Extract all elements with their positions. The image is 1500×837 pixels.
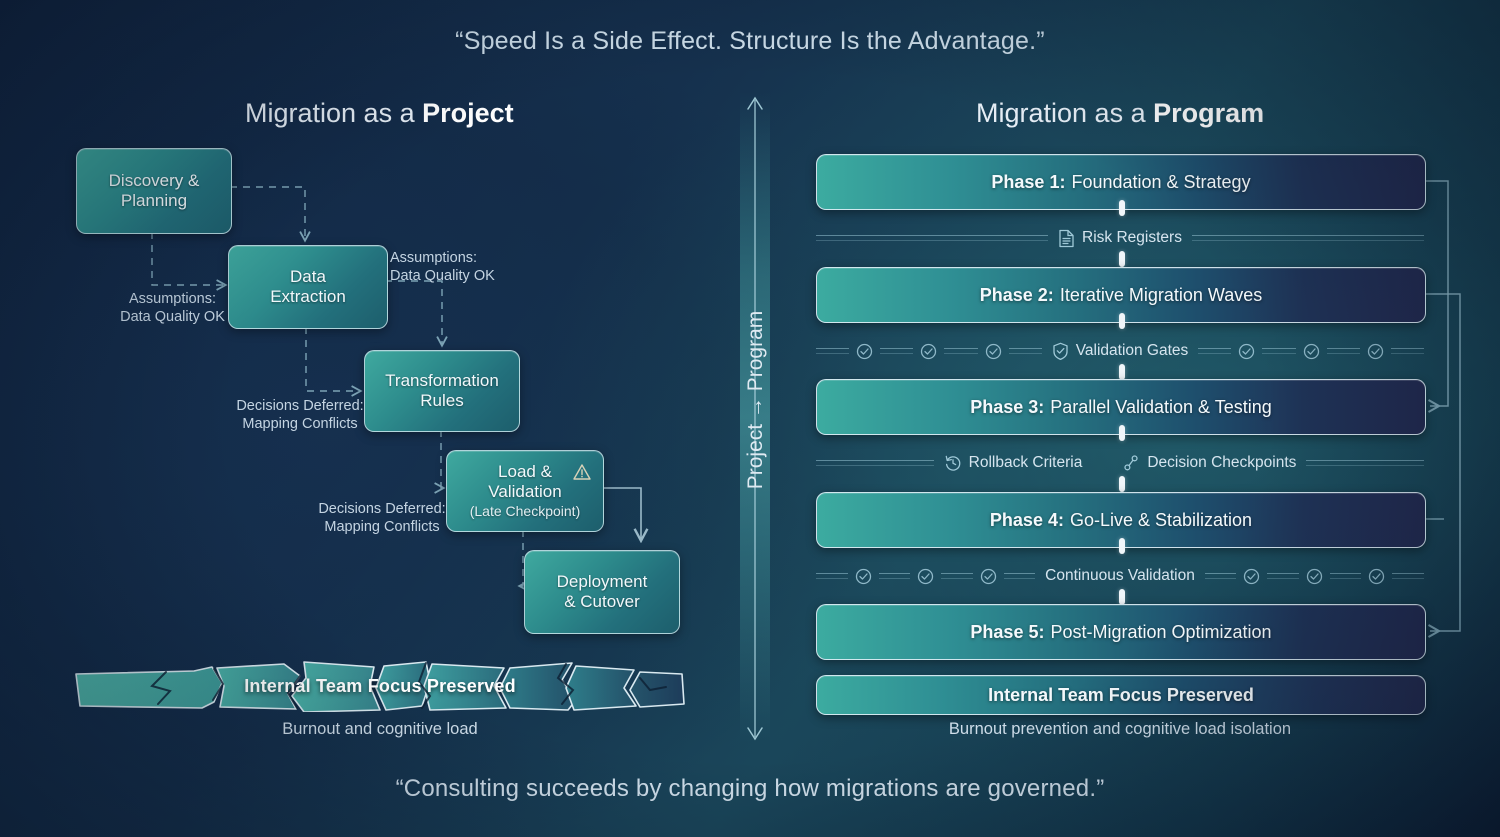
check-circle-icon (1306, 568, 1323, 585)
box-line1: Load & (498, 462, 552, 482)
rule-line (816, 573, 848, 579)
rule-line (1267, 573, 1299, 579)
check-circle-icon (980, 568, 997, 585)
branch-node-icon (1122, 454, 1140, 472)
project-box-transformation-rules[interactable]: Transformation Rules (364, 350, 520, 432)
phase-bar-5[interactable]: Phase 5: Post-Migration Optimization (816, 604, 1426, 660)
connector-label-group: Continuous Validation (1035, 567, 1205, 585)
box-line2: & Cutover (564, 592, 640, 612)
connector-label: Validation Gates (1076, 342, 1189, 360)
connector-label: Rollback Criteria (969, 454, 1083, 472)
rule-line (1306, 460, 1424, 466)
rule-line (1205, 573, 1237, 579)
check-circle-icon (1303, 343, 1320, 360)
edge-label-line1: Assumptions: (100, 290, 245, 308)
rule-line (941, 573, 973, 579)
connector-label: Risk Registers (1082, 229, 1182, 247)
rule-line (1262, 348, 1295, 354)
check-circle-icon (1367, 343, 1384, 360)
rule-line (1391, 348, 1424, 354)
connector-right-rule (1192, 235, 1424, 241)
phase-connector-stub (1119, 251, 1125, 267)
phase-connector-stub (1119, 425, 1125, 441)
phase-connector-stub (1119, 538, 1125, 554)
check-circle-icon (1243, 568, 1260, 585)
divider-label: Project → Program (744, 210, 768, 590)
rule-line (1198, 348, 1231, 354)
connector-left-gates (816, 568, 1035, 585)
rule-line (816, 348, 849, 354)
check-circle-icon (855, 568, 872, 585)
warning-triangle-icon (572, 462, 592, 482)
rule-line (816, 460, 934, 466)
check-circle-icon (985, 343, 1002, 360)
edge-label-decisions-1: Decisions Deferred: Mapping Conflicts (225, 397, 375, 433)
box-sublabel: (Late Checkpoint) (470, 503, 581, 520)
project-box-load-validation[interactable]: Load & Validation (Late Checkpoint) (446, 450, 604, 532)
phase-label: Parallel Validation & Testing (1050, 397, 1271, 418)
phase-number: Phase 3: (970, 397, 1044, 418)
edge-label-line2: Data Quality OK (390, 267, 540, 285)
phase-number: Phase 2: (980, 285, 1054, 306)
edge-label-line2: Data Quality OK (100, 308, 245, 326)
edge-label-assumptions-1: Assumptions: Data Quality OK (100, 290, 245, 326)
project-banner-caption: Burnout and cognitive load (74, 720, 686, 739)
connector-label-group-decision: Decision Checkpoints (1092, 454, 1306, 472)
box-line1: Data (290, 267, 326, 287)
connector-left-rule (816, 460, 934, 466)
box-line2: Rules (420, 391, 463, 411)
phase-number: Phase 5: (970, 622, 1044, 643)
connector-label-group: Risk Registers (1048, 229, 1192, 248)
program-banner-caption: Burnout prevention and cognitive load is… (816, 720, 1424, 739)
project-box-discovery-planning[interactable]: Discovery & Planning (76, 148, 232, 234)
rule-line (879, 573, 911, 579)
check-circle-icon (917, 568, 934, 585)
project-box-deployment-cutover[interactable]: Deployment & Cutover (524, 550, 680, 634)
document-icon (1058, 229, 1075, 248)
box-line2: Planning (121, 191, 187, 211)
phase-connector-stub (1119, 589, 1125, 605)
connector-label: Continuous Validation (1045, 567, 1195, 585)
connector-label-group-rollback: Rollback Criteria (934, 454, 1093, 472)
rule-line (1330, 573, 1362, 579)
box-line1: Deployment (557, 572, 648, 592)
phase-number: Phase 4: (990, 510, 1064, 531)
rule-line (1392, 573, 1424, 579)
diagram-canvas: “Speed Is a Side Effect. Structure Is th… (0, 0, 1500, 837)
project-banner-label: Internal Team Focus Preserved (74, 660, 686, 712)
rule-line (1004, 573, 1036, 579)
edge-label-line1: Decisions Deferred: (307, 500, 457, 518)
check-circle-icon (1238, 343, 1255, 360)
connector-row-continuous-validation: Continuous Validation (816, 563, 1424, 589)
check-circle-icon (1368, 568, 1385, 585)
edge-label-line2: Mapping Conflicts (225, 415, 375, 433)
project-panel: Migration as a Project (0, 0, 710, 837)
rule-line (1009, 348, 1042, 354)
rule-line (1192, 235, 1424, 241)
connector-row-validation-gates: Validation Gates (816, 338, 1424, 364)
edge-label-decisions-2: Decisions Deferred: Mapping Conflicts (307, 500, 457, 536)
rule-line (816, 235, 1048, 241)
connector-right-rule (1306, 460, 1424, 466)
phase-label: Iterative Migration Waves (1060, 285, 1262, 306)
check-circle-icon (856, 343, 873, 360)
program-banner[interactable]: Internal Team Focus Preserved (816, 675, 1426, 715)
phase-label: Go-Live & Stabilization (1070, 510, 1252, 531)
edge-label-line2: Mapping Conflicts (307, 518, 457, 536)
connector-right-gates (1205, 568, 1424, 585)
rule-line (944, 348, 977, 354)
connector-row-rollback-decision: Rollback Criteria Decision Checkpoints (816, 450, 1424, 476)
phase-connector-stub (1119, 313, 1125, 329)
shield-check-icon (1052, 342, 1069, 360)
connector-label: Decision Checkpoints (1147, 454, 1296, 472)
rule-line (880, 348, 913, 354)
phase-number: Phase 1: (991, 172, 1065, 193)
phase-label: Post-Migration Optimization (1050, 622, 1271, 643)
bottom-quote: “Consulting succeeds by changing how mig… (0, 775, 1500, 803)
edge-label-assumptions-2: Assumptions: Data Quality OK (390, 249, 540, 285)
program-banner-label: Internal Team Focus Preserved (988, 685, 1254, 706)
program-panel: Migration as a Program Phase 1: Foundati… (800, 0, 1500, 837)
connector-right-gates (1198, 343, 1424, 360)
edge-label-line1: Assumptions: (390, 249, 540, 267)
project-to-program-divider: Project → Program (712, 0, 798, 837)
history-rollback-icon (944, 454, 962, 472)
box-line1: Discovery & (109, 171, 200, 191)
phase-connector-stub (1119, 364, 1125, 380)
box-line1: Transformation (385, 371, 499, 391)
check-circle-icon (920, 343, 937, 360)
box-line2: Extraction (270, 287, 346, 307)
connector-label-group: Validation Gates (1042, 342, 1199, 360)
connector-left-gates (816, 343, 1042, 360)
phase-label: Foundation & Strategy (1071, 172, 1250, 193)
box-line2: Validation (488, 482, 561, 502)
connector-row-risk-registers: Risk Registers (816, 225, 1424, 251)
phase-connector-stub (1119, 476, 1125, 492)
connector-left-rule (816, 235, 1048, 241)
phase-connector-stub (1119, 200, 1125, 216)
edge-label-line1: Decisions Deferred: (225, 397, 375, 415)
rule-line (1327, 348, 1360, 354)
project-box-data-extraction[interactable]: Data Extraction (228, 245, 388, 329)
